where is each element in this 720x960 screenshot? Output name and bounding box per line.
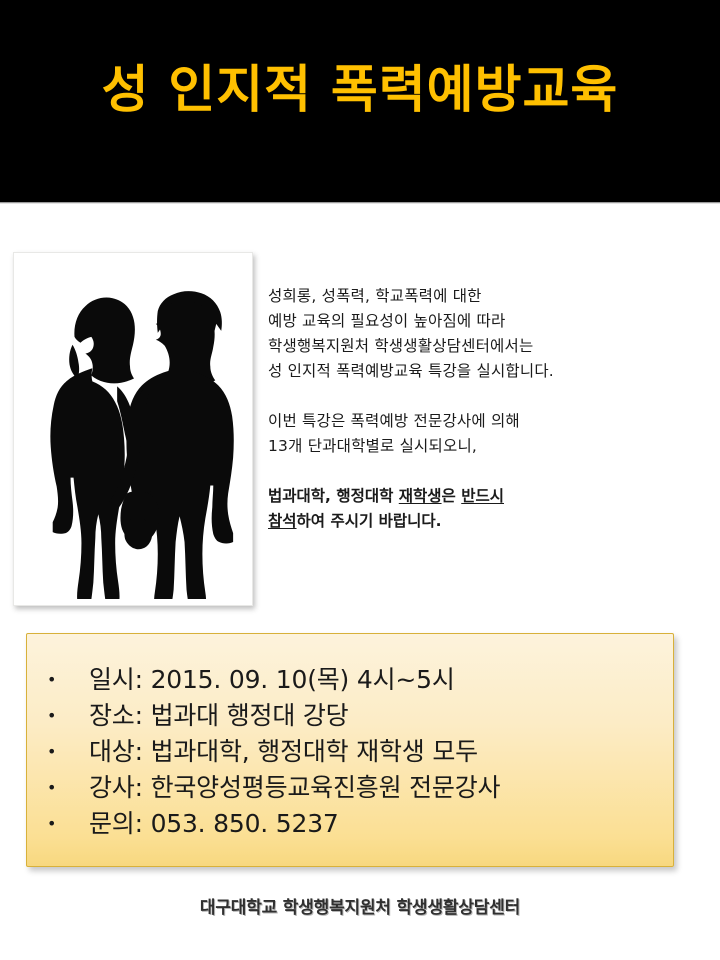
paragraph-spacer-1 [268, 384, 708, 409]
paragraph3-mid: 은 [442, 487, 462, 505]
paragraph3-line1: 법과대학, 행정대학 재학생은 반드시 [268, 484, 708, 509]
paragraph1-line3: 학생행복지원처 학생생활상담센터에서는 [268, 334, 708, 359]
list-item: 일시: 2015. 09. 10(목) 4시~5시 [45, 662, 673, 698]
paragraph3-underline-must: 반드시 [461, 487, 504, 505]
silhouette-photo [20, 259, 246, 599]
paragraph3-underline-attend: 참석 [268, 512, 297, 530]
paragraph3-post: 하여 주시기 바랍니다. [297, 512, 442, 530]
couple-silhouette-icon [20, 259, 246, 599]
paragraph2-line2: 13개 단과대학별로 실시되오니, [268, 434, 708, 459]
paragraph-spacer-2 [268, 459, 708, 484]
poster-root: 성 인지적 폭력예방교육 [0, 0, 720, 960]
paragraph3-pre: 법과대학, 행정대학 [268, 487, 399, 505]
footer-organization: 대구대학교 학생행복지원처 학생생활상담센터 [0, 893, 720, 918]
list-item: 대상: 법과대학, 행정대학 재학생 모두 [45, 734, 673, 770]
event-details-box: 일시: 2015. 09. 10(목) 4시~5시 장소: 법과대 행정대 강당… [26, 633, 674, 867]
paragraph2-line1: 이번 특강은 폭력예방 전문강사에 의해 [268, 409, 708, 434]
list-item: 장소: 법과대 행정대 강당 [45, 698, 673, 734]
event-details-list: 일시: 2015. 09. 10(목) 4시~5시 장소: 법과대 행정대 강당… [27, 634, 673, 842]
paragraph3-line2: 참석하여 주시기 바랍니다. [268, 509, 708, 534]
paragraph1-line4: 성 인지적 폭력예방교육 특강을 실시합니다. [268, 359, 708, 384]
silhouette-photo-frame [13, 252, 253, 606]
list-item: 강사: 한국양성평등교육진흥원 전문강사 [45, 770, 673, 806]
page-title: 성 인지적 폭력예방교육 [0, 62, 720, 121]
paragraph1-line2: 예방 교육의 필요성이 높아짐에 따라 [268, 309, 708, 334]
paragraph1-line1: 성희롱, 성폭력, 학교폭력에 대한 [268, 284, 708, 309]
paragraph3-underline-students: 재학생 [399, 487, 442, 505]
body-copy: 성희롱, 성폭력, 학교폭력에 대한 예방 교육의 필요성이 높아짐에 따라 학… [268, 284, 708, 534]
header-divider-rule [0, 202, 720, 204]
list-item: 문의: 053. 850. 5237 [45, 806, 673, 842]
